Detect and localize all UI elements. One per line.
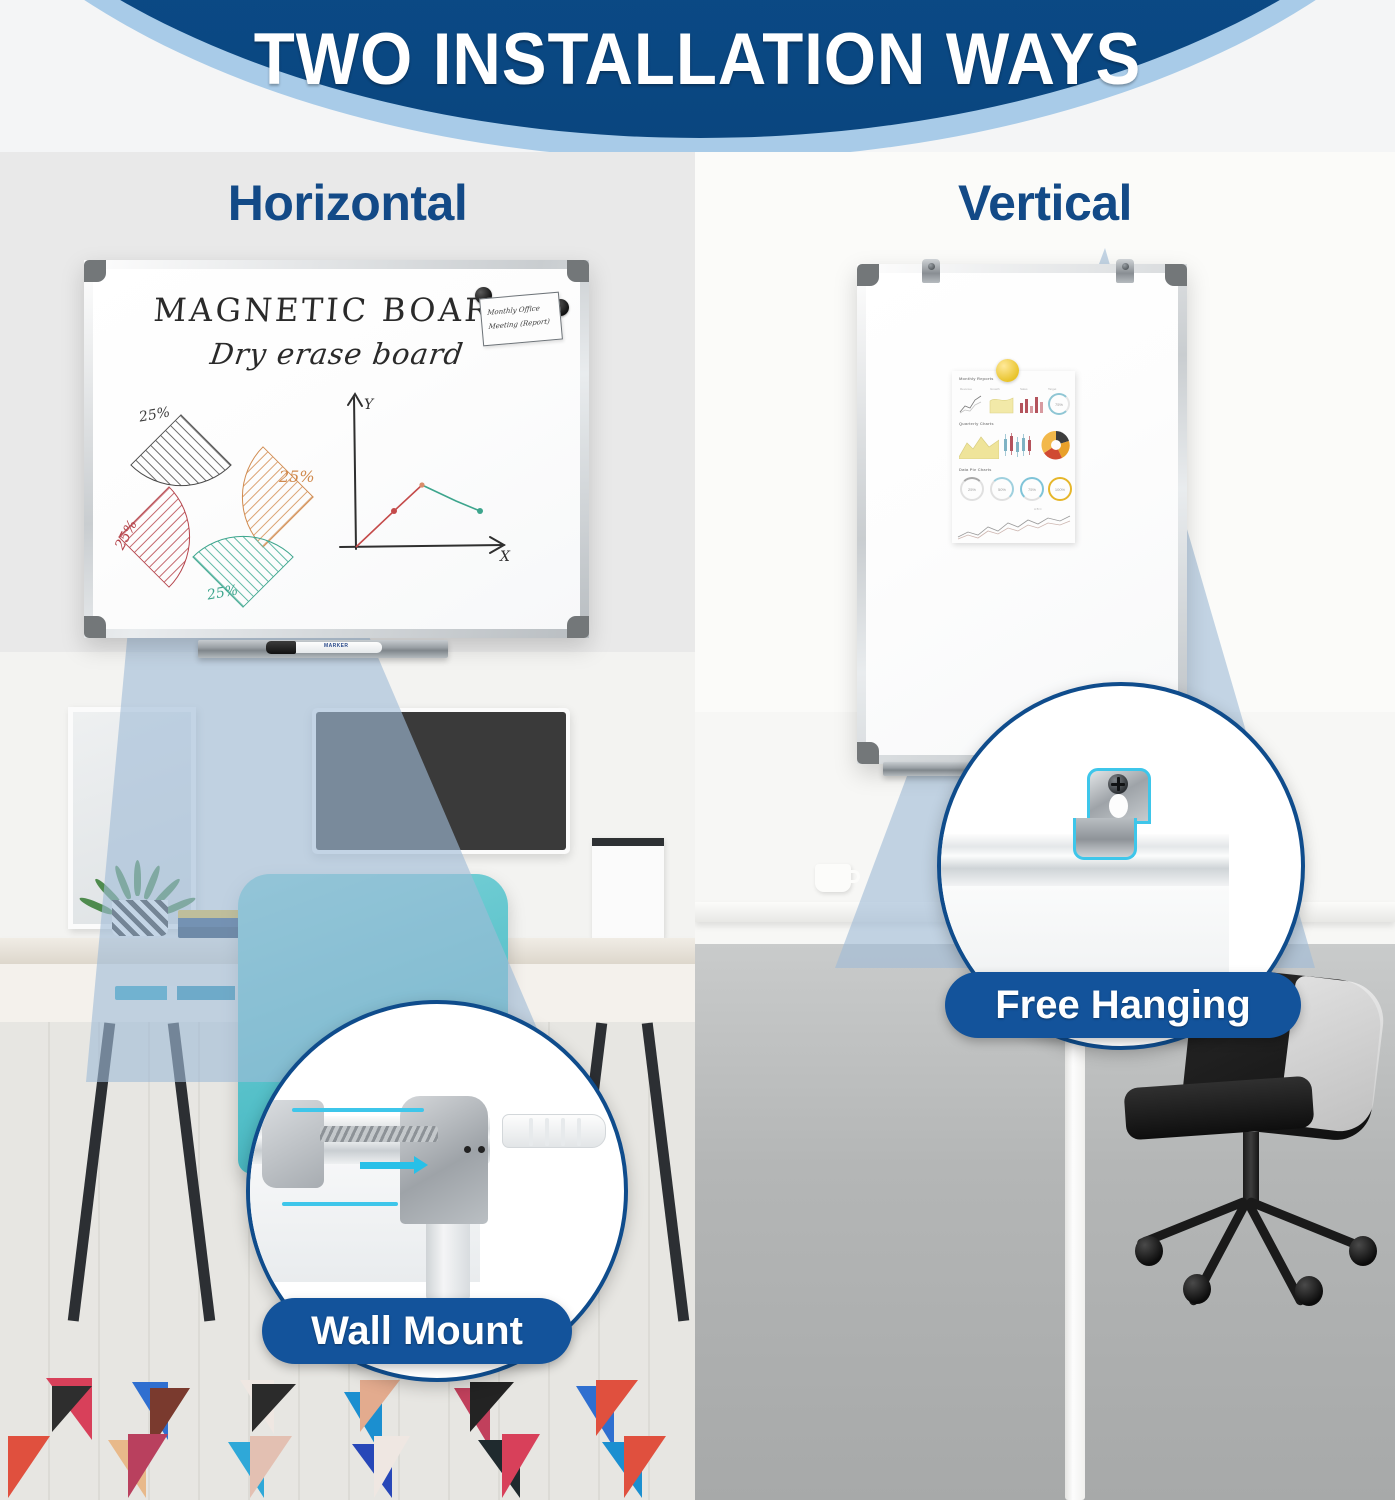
pie-label-2: 25% (279, 467, 315, 486)
heading-horizontal: Horizontal (0, 174, 695, 232)
wm-screw (320, 1126, 438, 1142)
screw-icon (1108, 774, 1128, 794)
wm-end-cap (262, 1100, 324, 1188)
wm-dot (478, 1146, 485, 1153)
keyhole-bracket (1116, 259, 1134, 283)
svg-text:Y: Y (364, 397, 375, 413)
marker-cap (266, 641, 296, 654)
frame-corner (567, 260, 589, 282)
frame-corner (567, 616, 589, 638)
keyhole-bracket (922, 259, 940, 283)
poster-donut-value: 75% (1050, 395, 1068, 413)
poster-donut-value: 50% (992, 479, 1012, 499)
marker-tray: MARKER (198, 640, 448, 658)
wm-highlight (282, 1202, 398, 1206)
handdrawn-line-graph: Y X (338, 389, 518, 579)
graph-svg: Y X (338, 389, 518, 579)
chair-caster (1349, 1236, 1377, 1266)
clipboard (592, 838, 664, 938)
chair-gas-cylinder (1243, 1132, 1259, 1204)
poster-section-2: Quarterly Charts (959, 421, 994, 426)
pie-label-1: 25% (138, 404, 171, 425)
poster-pie-chart (1040, 429, 1072, 461)
sticky-note-line-2: Meeting (Report) (488, 317, 550, 330)
fh-keyhole-bracket (1073, 768, 1165, 876)
dry-erase-marker: MARKER (294, 642, 382, 653)
fh-keyhole-slot (1109, 794, 1128, 818)
poster-caption: Sales (1020, 387, 1028, 391)
poster-mountain-chart (959, 431, 999, 459)
chair-caster (1295, 1276, 1323, 1306)
header-banner: TWO INSTALLATION WAYS (0, 0, 1395, 152)
chair-caster (1135, 1236, 1163, 1266)
frame-corner (84, 260, 106, 282)
wm-insert-arrow (360, 1162, 416, 1169)
mug-handle (848, 870, 860, 883)
coffee-mug (815, 864, 851, 892)
heading-vertical: Vertical (695, 174, 1395, 232)
fh-bracket-bottom (1073, 818, 1137, 860)
dashboard-poster: Monthly Reports Revenue Growth Sales Tar… (952, 371, 1075, 543)
wall-mount-label: Wall Mount (262, 1298, 572, 1364)
poster-area-chart (989, 393, 1015, 415)
free-hanging-label: Free Hanging (945, 972, 1301, 1038)
poster-trend-chart (956, 513, 1072, 541)
handwriting-title: MAGNETIC BOARD (152, 291, 521, 329)
wall-brackets (866, 259, 1178, 285)
chair-caster (1183, 1274, 1211, 1304)
svg-text:X: X (499, 549, 511, 565)
poster-donut-50: 50% (990, 477, 1014, 501)
frame-corner (84, 616, 106, 638)
poster-donut-top: 75% (1048, 393, 1070, 415)
poster-donut-25: 25% (960, 477, 984, 501)
poster-caption: Target (1048, 387, 1056, 391)
poster-line-chart (959, 393, 985, 415)
handdrawn-pie-chart: 25% 25% 25% 25% (129, 417, 314, 602)
poster-donut-75: 75% (1020, 477, 1044, 501)
poster-donut-value: 25% (962, 479, 982, 499)
panel-horizontal: Horizontal (0, 152, 695, 1500)
poster-donut-value: 100% (1050, 479, 1070, 499)
wm-highlight (292, 1108, 424, 1112)
infographic-root: TWO INSTALLATION WAYS Horizontal (0, 0, 1395, 1500)
wm-dot (464, 1146, 471, 1153)
magnet-yellow (996, 359, 1019, 382)
wm-wall-anchor (502, 1114, 606, 1148)
poster-section-3: Data Pie Charts (959, 467, 992, 472)
poster-section-1: Monthly Reports (959, 376, 994, 381)
whiteboard-horizontal: MAGNETIC BOARD Dry erase board 25% 25% 2… (84, 260, 589, 638)
poster-candle-chart (1002, 431, 1036, 459)
marker-label: MARKER (324, 643, 348, 649)
poster-bar-chart (1018, 393, 1044, 415)
poster-donut-value: 75% (1022, 479, 1042, 499)
handwriting-subtitle: Dry erase board (208, 337, 466, 371)
poster-caption: Revenue (960, 387, 972, 391)
poster-caption: Growth (990, 387, 1000, 391)
whiteboard-surface: MAGNETIC BOARD Dry erase board 25% 25% 2… (93, 269, 580, 629)
pie-label-4: 25% (206, 582, 239, 603)
sticky-note-line-1: Monthly Office (487, 304, 540, 317)
sticky-note: Monthly Office Meeting (Report) (479, 292, 563, 347)
frame-corner (857, 742, 879, 764)
page-title: TWO INSTALLATION WAYS (56, 0, 1339, 118)
geometric-rug (0, 1378, 695, 1500)
panel-vertical: Vertical (695, 152, 1395, 1500)
poster-donut-100: 100% (1048, 477, 1072, 501)
poster-legend: A B C (1034, 507, 1042, 511)
